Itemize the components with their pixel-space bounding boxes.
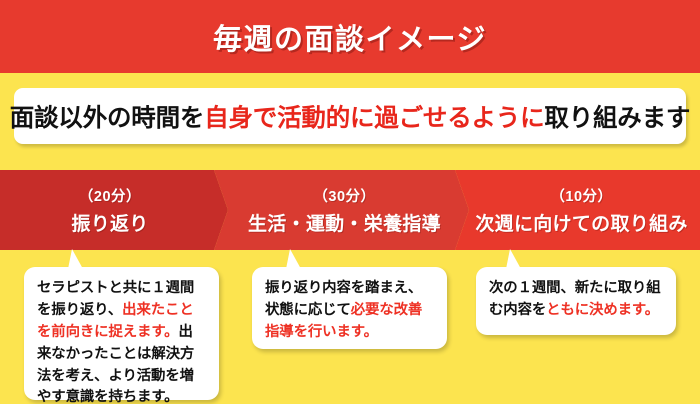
step-2-duration: （30分） <box>313 185 375 206</box>
step-3-duration: （10分） <box>550 185 612 206</box>
step-chevron-1-inner: （20分） 振り返り <box>71 185 156 236</box>
step-1-bubble-text: セラピストと共に１週間を振り返り、出来たことを前向きに捉えます。出来なかったこと… <box>37 278 207 404</box>
step-3-label: 次週に向けての取り組み <box>475 209 687 236</box>
header-bar: 毎週の面談イメージ <box>0 0 700 73</box>
step-chevron-1[interactable]: （20分） 振り返り <box>0 170 228 250</box>
statement-lead: 面談以外の時間を <box>10 105 204 132</box>
page-title: 毎週の面談イメージ <box>0 0 700 73</box>
statement-highlight: 自身で活動的に過ごせるように <box>204 105 544 132</box>
step-chevron-2-inner: （30分） 生活・運動・栄養指導 <box>238 185 445 236</box>
step-3-bubble-text: 次の１週間、新たに取り組む内容をともに決めます。 <box>489 278 664 322</box>
step-ribbon: （20分） 振り返り （30分） 生活・運動・栄養指導 （10分） 次週に向けて… <box>0 170 700 250</box>
speech-tail-icon <box>506 249 521 269</box>
step-1-label: 振り返り <box>71 209 148 236</box>
statement-callout: 面談以外の時間を自身で活動的に過ごせるように取り組みます <box>14 88 686 144</box>
step-1-duration: （20分） <box>79 185 141 206</box>
step-chevron-3[interactable]: （10分） 次週に向けての取り組み <box>455 170 700 250</box>
speech-tail-icon <box>68 249 83 269</box>
step-1-bubble: セラピストと共に１週間を振り返り、出来たことを前向きに捉えます。出来なかったこと… <box>24 267 219 400</box>
step-chevron-3-inner: （10分） 次週に向けての取り組み <box>467 185 687 236</box>
infographic-canvas: 毎週の面談イメージ 面談以外の時間を自身で活動的に過ごせるように取り組みます （… <box>0 0 700 404</box>
statement-text: 面談以外の時間を自身で活動的に過ごせるように取り組みます <box>10 99 690 134</box>
statement-tail: 取り組みます <box>544 105 690 132</box>
step-2-bubble-text: 振り返り内容を踏まえ、状態に応じて必要な改善指導を行います。 <box>265 278 435 344</box>
step-3-bubble: 次の１週間、新たに取り組む内容をともに決めます。 <box>476 267 676 335</box>
step-detail-bubbles: セラピストと共に１週間を振り返り、出来たことを前向きに捉えます。出来なかったこと… <box>0 250 700 404</box>
step-3-bubble-highlight: ともに決めます。 <box>546 302 659 318</box>
step-2-label: 生活・運動・栄養指導 <box>248 209 441 236</box>
step-2-bubble: 振り返り内容を踏まえ、状態に応じて必要な改善指導を行います。 <box>252 267 447 349</box>
step-chevron-2[interactable]: （30分） 生活・運動・栄養指導 <box>214 170 469 250</box>
speech-tail-icon <box>286 249 301 269</box>
